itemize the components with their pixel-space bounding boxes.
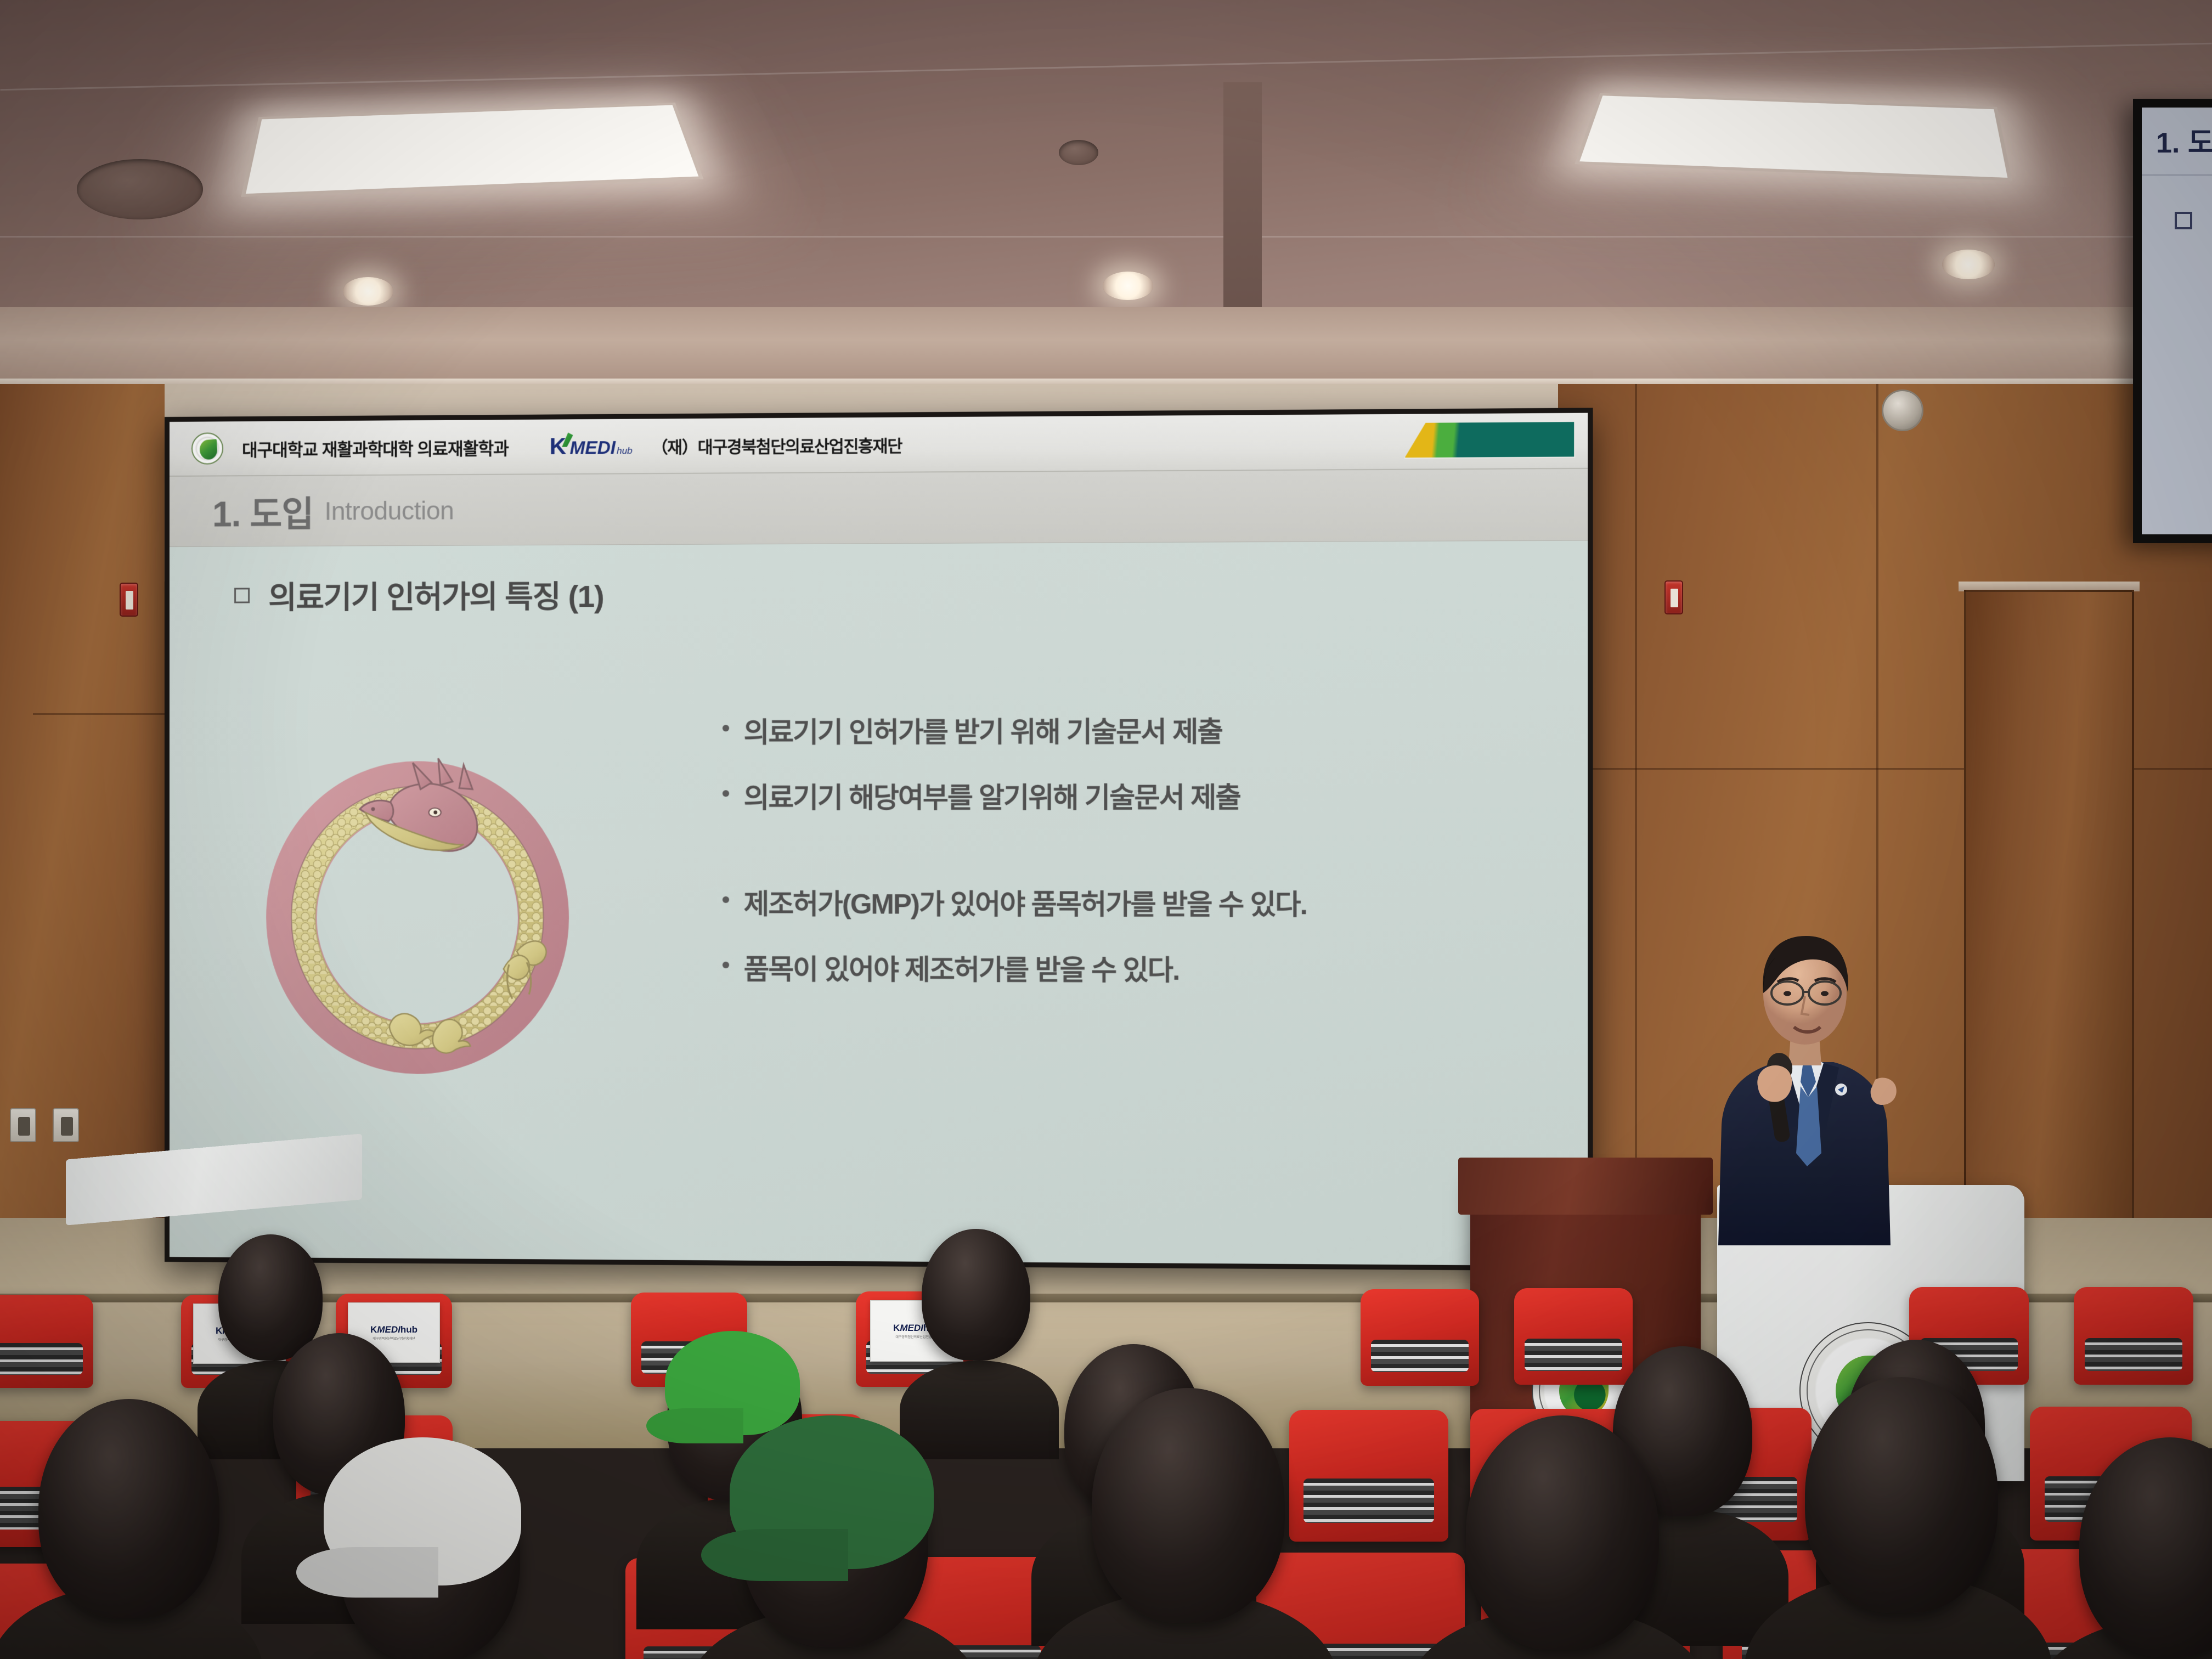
secondary-monitor: 1. 도 <box>2133 99 2212 543</box>
audience-head <box>38 1399 219 1618</box>
slide-title-band: 1. 도입 Introduction <box>170 469 1588 547</box>
bullet-group: 제조허가(GMP)가 있어야 품목허가를 받을 수 있다. 품목이 있어야 제조… <box>723 882 1547 989</box>
power-outlet[interactable] <box>53 1108 79 1142</box>
auditorium-seat[interactable] <box>1289 1410 1448 1542</box>
bullet-text: 제조허가(GMP)가 있어야 품목허가를 받을 수 있다. <box>744 882 1307 923</box>
bullet-group: 의료기기 인허가를 받기 위해 기술문서 제출 의료기기 해당여부를 알기위해 … <box>723 709 1547 816</box>
auditorium-seat[interactable] <box>1361 1289 1479 1386</box>
ceiling-downlight <box>1103 272 1153 300</box>
monitor2-divider <box>2142 174 2212 176</box>
slide-title-english: Introduction <box>324 495 454 526</box>
ceiling-vent <box>1059 140 1098 165</box>
kmedi-logo-hub: hub <box>617 445 633 456</box>
wood-seam <box>1635 384 1637 1273</box>
banner-org-primary: 대구대학교 재활과학대학 의료재활학과 <box>242 435 509 461</box>
slide-subtitle-text: 의료기기 인허가의 특징 (1) <box>268 572 603 618</box>
handout-logo-medi: MEDI <box>900 1323 923 1333</box>
bullet-text: 의료기기 인허가를 받기 위해 기술문서 제출 <box>744 709 1222 750</box>
audience-head <box>1805 1377 1998 1613</box>
monitor2-title-fragment: 1. 도 <box>2156 120 2212 161</box>
kmedi-logo-k: K <box>550 435 569 458</box>
bullet-text: 의료기기 해당여부를 알기위해 기술문서 제출 <box>744 775 1240 815</box>
auditorium-seat[interactable] <box>2074 1287 2193 1385</box>
handout-logo-k: K <box>370 1324 377 1335</box>
exit-door[interactable] <box>1964 590 2134 1243</box>
lecture-hall-scene: 대구대학교 재활과학대학 의료재활학과 K MEDI hub （재）대구경북첨단… <box>0 0 2212 1659</box>
banner-org-secondary: （재）대구경북첨단의료산업진흥재단 <box>651 432 902 458</box>
bullet-item: 의료기기 해당여부를 알기위해 기술문서 제출 <box>723 775 1547 816</box>
ouroboros-dragon-graphic <box>263 744 572 1075</box>
square-bullet-icon <box>234 588 250 603</box>
bullet-dot-icon <box>723 962 729 968</box>
green-cap <box>665 1331 800 1435</box>
bullet-text: 품목이 있어야 제조허가를 받을 수 있다. <box>744 947 1180 988</box>
bullet-item: 제조허가(GMP)가 있어야 품목허가를 받을 수 있다. <box>723 882 1547 923</box>
kmedi-logo-medi: MEDI <box>569 438 616 457</box>
projection-screen: 대구대학교 재활과학대학 의료재활학과 K MEDI hub （재）대구경북첨단… <box>165 408 1593 1271</box>
ceiling-seam <box>0 236 2212 238</box>
camera-dome-icon <box>1882 390 1923 431</box>
slide-banner: 대구대학교 재활과학대학 의료재활학과 K MEDI hub （재）대구경북첨단… <box>170 413 1588 477</box>
presenter <box>1690 905 1920 1245</box>
bullet-item: 의료기기 인허가를 받기 위해 기술문서 제출 <box>723 709 1547 751</box>
bullet-dot-icon <box>723 896 729 903</box>
audience-seating: KMEDIhub 대구경북첨단의료산업진흥재단 KMEDIhub 대구경북첨단의… <box>0 1278 2212 1659</box>
slide-body: 의료기기 인허가의 특징 (1) <box>170 541 1588 1271</box>
audience-head <box>1466 1415 1659 1650</box>
audience-shoulders <box>900 1361 1059 1459</box>
audience-head <box>1092 1388 1285 1623</box>
lectern-top-surface <box>1458 1158 1713 1215</box>
kmedi-hub-logo: K MEDI hub <box>550 435 633 458</box>
fire-alarm-icon <box>120 583 138 617</box>
bullet-dot-icon <box>723 725 729 731</box>
banner-flag-graphic <box>1404 421 1575 459</box>
dark-green-cap <box>730 1415 934 1569</box>
ceiling-downlight <box>1942 250 1995 279</box>
handout-subtitle: 대구경북첨단의료산업진흥재단 <box>373 1336 415 1341</box>
audience-head <box>922 1229 1030 1361</box>
slide-subtitle: 의료기기 인허가의 특징 (1) <box>234 572 603 618</box>
power-outlet[interactable] <box>10 1108 36 1142</box>
wood-wall-left <box>0 384 165 1284</box>
handout-logo-medi: MEDI <box>377 1324 400 1335</box>
ceiling-downlight <box>343 277 393 306</box>
auditorium-seat[interactable] <box>1514 1288 1633 1385</box>
handout-logo-k: K <box>216 1325 222 1336</box>
university-emblem-icon <box>191 432 223 464</box>
bullet-item: 품목이 있어야 제조허가를 받을 수 있다. <box>723 947 1547 989</box>
ceiling-beam <box>1223 82 1262 318</box>
auditorium-seat[interactable] <box>0 1295 93 1388</box>
handout-logo-k: K <box>893 1323 900 1333</box>
fire-alarm-icon <box>1664 580 1683 614</box>
ceiling-soffit <box>0 307 2212 390</box>
audience-head <box>218 1234 323 1361</box>
white-cap <box>324 1437 521 1585</box>
slide-title-korean: 1. 도입 <box>212 486 313 537</box>
monitor2-square-bullet-icon <box>2175 212 2192 229</box>
slide-bullet-list: 의료기기 인허가를 받기 위해 기술문서 제출 의료기기 해당여부를 알기위해 … <box>723 709 1547 1056</box>
handout-logo-hub: hub <box>400 1324 417 1335</box>
wood-seam <box>33 713 165 715</box>
bullet-dot-icon <box>723 790 729 797</box>
ceiling-vent <box>77 159 203 219</box>
